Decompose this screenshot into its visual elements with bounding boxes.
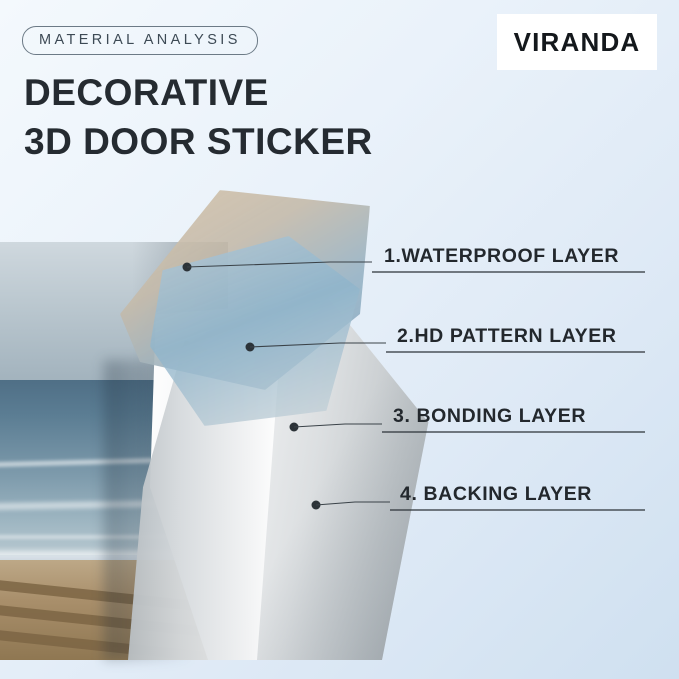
eyebrow-badge: MATERIAL ANALYSIS <box>22 26 258 55</box>
poster-root: MATERIAL ANALYSIS VIRANDA DECORATIVE 3D … <box>0 0 679 679</box>
brand-logo-box: VIRANDA <box>497 14 657 70</box>
layer-label-2: 2.HD PATTERN LAYER <box>397 325 617 348</box>
brand-name: VIRANDA <box>514 27 641 58</box>
sticker-peel-illustration <box>0 190 440 660</box>
page-title: DECORATIVE 3D DOOR STICKER <box>24 68 373 166</box>
page-title-line-2: 3D DOOR STICKER <box>24 117 373 166</box>
layer-label-1: 1.WATERPROOF LAYER <box>384 245 619 268</box>
layer-label-3: 3. BONDING LAYER <box>393 405 586 428</box>
layer-label-4: 4. BACKING LAYER <box>400 483 592 506</box>
page-title-line-1: DECORATIVE <box>24 72 269 113</box>
